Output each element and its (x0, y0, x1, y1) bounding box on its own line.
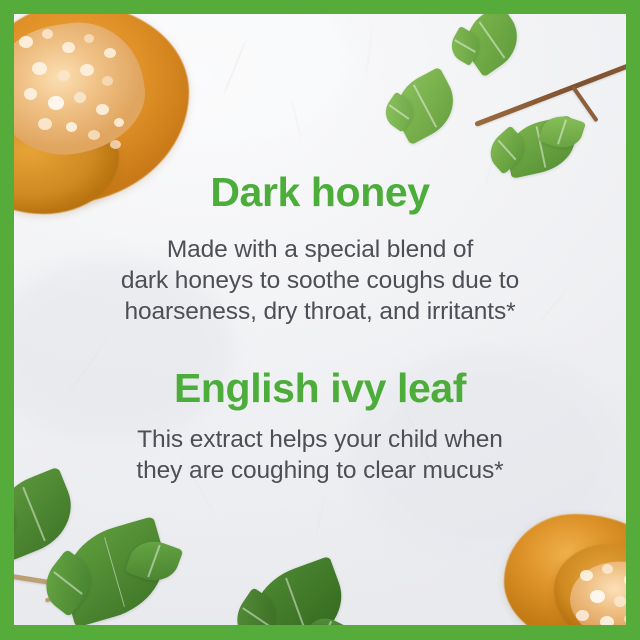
body-dark-honey: Made with a special blend of dark honeys… (14, 234, 626, 327)
card-inner-background: Dark honey Made with a special blend of … (14, 14, 626, 625)
body-english-ivy-leaf: This extract helps your child when they … (14, 424, 626, 486)
text-content: Dark honey Made with a special blend of … (14, 14, 626, 625)
product-ingredient-card: Dark honey Made with a special blend of … (0, 0, 640, 640)
heading-english-ivy-leaf: English ivy leaf (14, 368, 626, 409)
heading-dark-honey: Dark honey (14, 172, 626, 213)
